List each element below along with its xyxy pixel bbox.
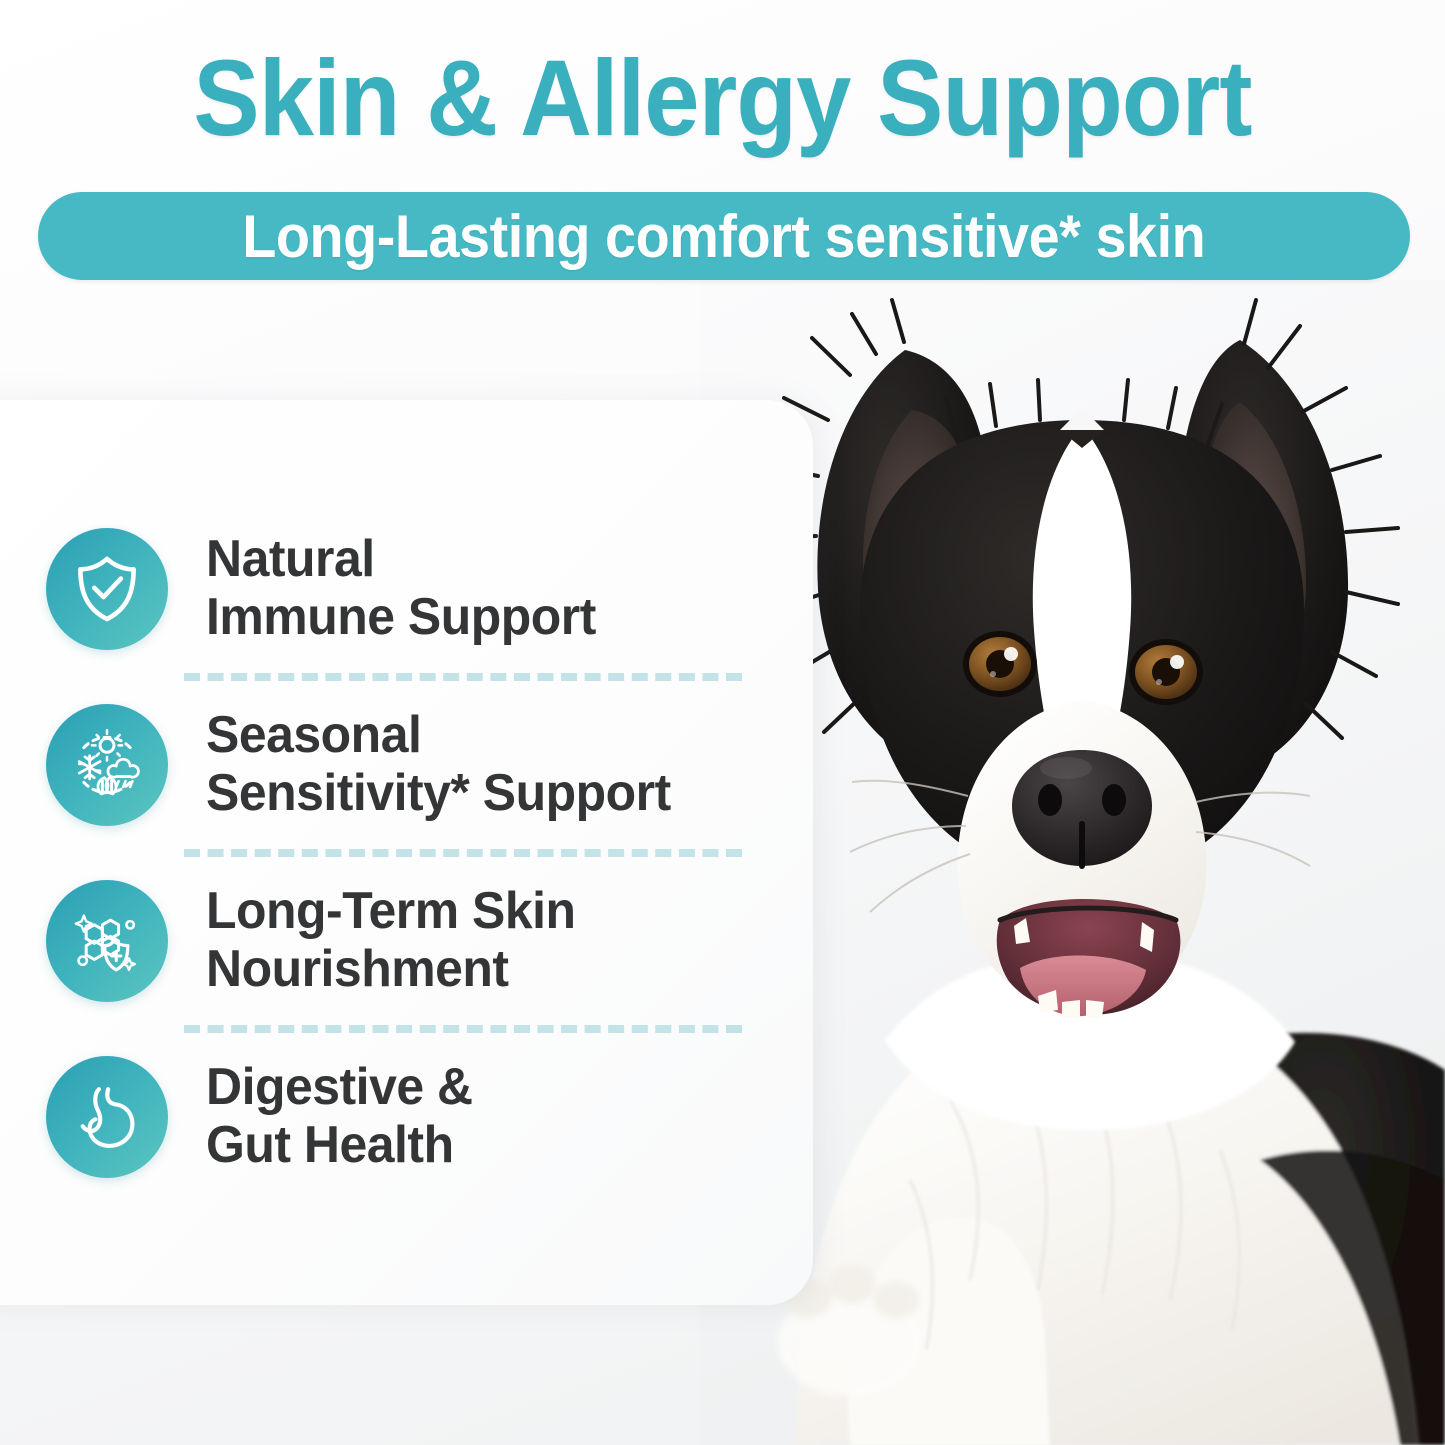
- benefit-item-digestive-gut-health[interactable]: Digestive & Gut Health: [40, 1033, 813, 1201]
- benefit-label: Natural Immune Support: [206, 531, 596, 645]
- subtitle-banner: Long-Lasting comfort sensitive* skin: [38, 192, 1410, 280]
- benefit-divider: [184, 673, 742, 681]
- shield-check-icon: [46, 528, 168, 650]
- page-title: Skin & Allergy Support: [58, 44, 1387, 152]
- benefit-item-long-term-skin-nourishment[interactable]: Long-Term Skin Nourishment: [40, 857, 813, 1025]
- four-seasons-icon: [46, 704, 168, 826]
- benefit-divider: [184, 1025, 742, 1033]
- benefit-label: Seasonal Sensitivity* Support: [206, 707, 671, 821]
- benefit-item-seasonal-sensitivity-support[interactable]: Seasonal Sensitivity* Support: [40, 681, 813, 849]
- benefit-label: Digestive & Gut Health: [206, 1059, 473, 1173]
- benefit-item-natural-immune-support[interactable]: Natural Immune Support: [40, 505, 813, 673]
- molecule-shield-icon: [46, 880, 168, 1002]
- benefit-divider: [184, 849, 742, 857]
- stomach-icon: [46, 1056, 168, 1178]
- subtitle-text: Long-Lasting comfort sensitive* skin: [242, 202, 1205, 271]
- benefits-card: Natural Immune Support: [0, 400, 813, 1305]
- benefit-label: Long-Term Skin Nourishment: [206, 883, 576, 997]
- infographic-canvas: Skin & Allergy Support Long-Lasting comf…: [0, 0, 1445, 1445]
